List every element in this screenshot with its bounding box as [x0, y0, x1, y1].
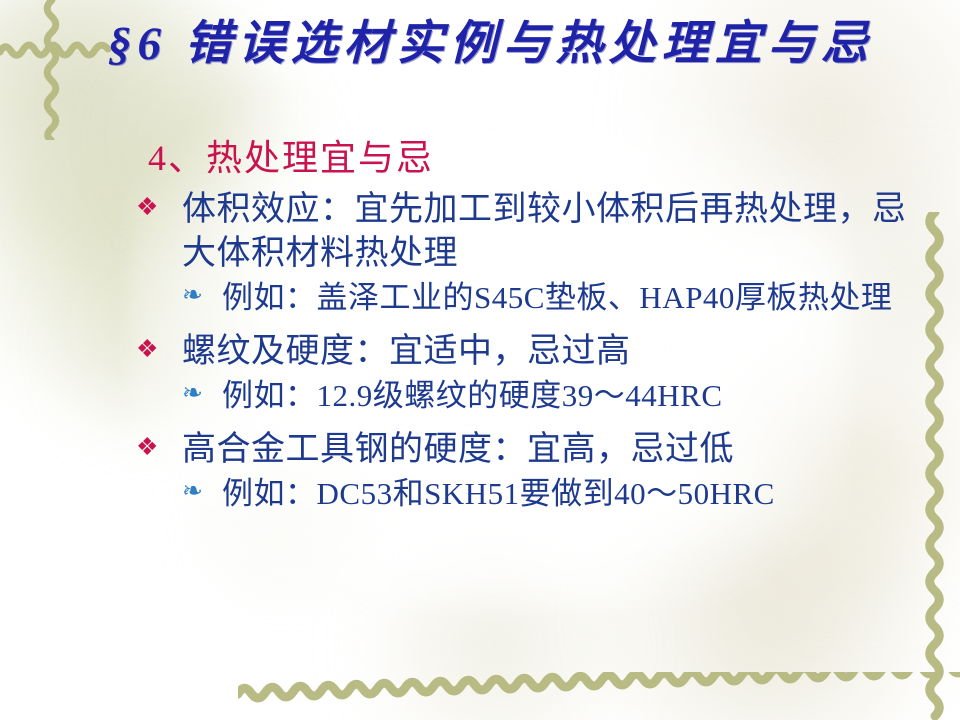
list-item-label: 体积效应：宜先加工到较小体积后再热处理，忌大体积材料热处理: [182, 188, 926, 276]
sub-list-item-label: 例如：盖泽工业的S45C垫板、HAP40厚板热处理: [222, 278, 926, 318]
decor-squiggle-horizontal-top-left: [0, 28, 120, 68]
sub-list-item: ❧ 例如：DC53和SKH51要做到40～50HRC: [182, 474, 926, 514]
foliage-watermark-blob: [330, 560, 660, 720]
section-heading: 4、热处理宜与忌: [148, 129, 434, 181]
list-item-label: 螺纹及硬度：宜适中，忌过高: [182, 330, 926, 374]
swirl-bullet-icon: ❧: [182, 376, 222, 411]
sub-list-item-label: 例如：DC53和SKH51要做到40～50HRC: [222, 474, 926, 514]
list-item: ❖ 高合金工具钢的硬度：宜高，忌过低: [136, 428, 926, 472]
list-item: ❖ 体积效应：宜先加工到较小体积后再热处理，忌大体积材料热处理: [136, 188, 926, 276]
spacer: [136, 418, 926, 428]
sub-list-item: ❧ 例如：盖泽工业的S45C垫板、HAP40厚板热处理: [182, 278, 926, 318]
slide-title: §6 错误选材实例与热处理宜与忌: [108, 18, 928, 71]
list-item: ❖ 螺纹及硬度：宜适中，忌过高: [136, 330, 926, 374]
list-item-label: 高合金工具钢的硬度：宜高，忌过低: [182, 428, 926, 472]
sub-list-item-label: 例如：12.9级螺纹的硬度39～44HRC: [222, 376, 926, 416]
decor-squiggle-horizontal-bottom: [238, 672, 960, 710]
swirl-bullet-icon: ❧: [182, 278, 222, 313]
decor-squiggle-vertical-top-left: [32, 0, 72, 140]
diamond-bullet-icon: ❖: [136, 330, 182, 371]
diamond-bullet-icon: ❖: [136, 428, 182, 469]
spacer: [136, 320, 926, 330]
swirl-bullet-icon: ❧: [182, 474, 222, 509]
foliage-watermark-blob: [560, 520, 960, 720]
bullet-list: ❖ 体积效应：宜先加工到较小体积后再热处理，忌大体积材料热处理 ❧ 例如：盖泽工…: [136, 188, 926, 516]
presentation-slide: §6 错误选材实例与热处理宜与忌 4、热处理宜与忌 ❖ 体积效应：宜先加工到较小…: [0, 0, 960, 720]
diamond-bullet-icon: ❖: [136, 188, 182, 229]
sub-list-item: ❧ 例如：12.9级螺纹的硬度39～44HRC: [182, 376, 926, 416]
